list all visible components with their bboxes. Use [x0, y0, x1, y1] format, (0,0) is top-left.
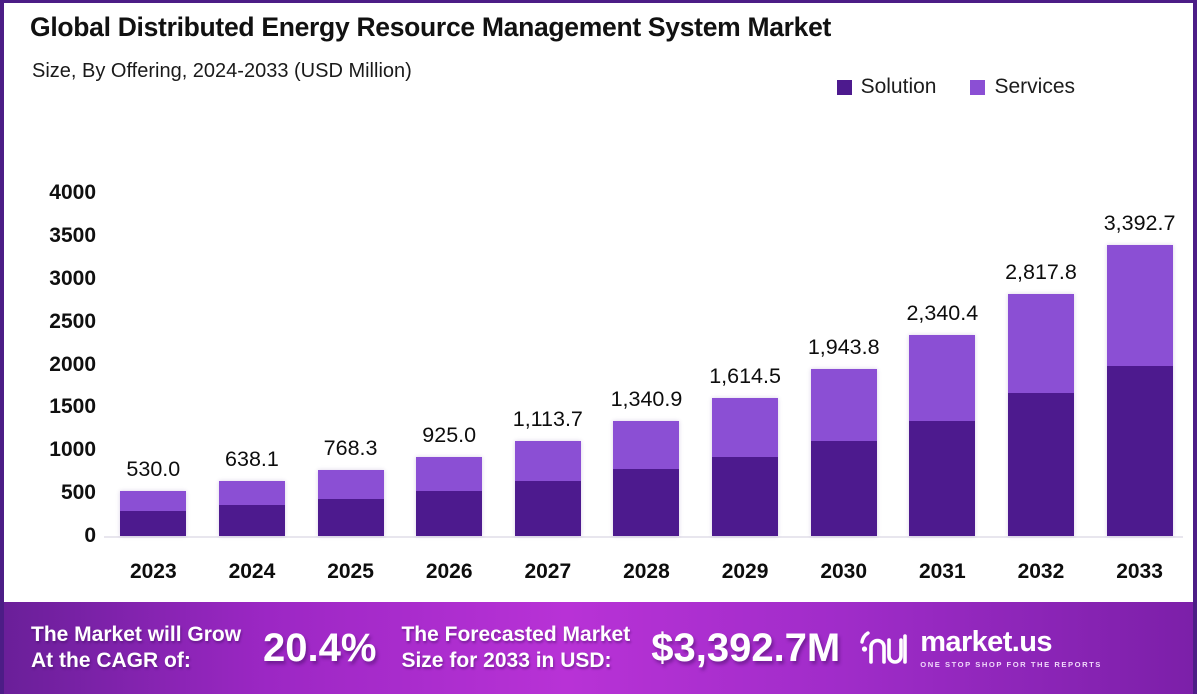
- bar-stack: [613, 421, 679, 536]
- chart-infographic: Global Distributed Energy Resource Manag…: [0, 0, 1197, 694]
- bar-group-2032[interactable]: 2,817.82032: [993, 107, 1089, 598]
- forecast-value: $3,392.7M: [651, 626, 840, 671]
- y-axis-tick-4000: 4000: [4, 181, 96, 205]
- bar-segment-solution[interactable]: [318, 499, 384, 536]
- chart-header: Global Distributed Energy Resource Manag…: [4, 3, 1193, 107]
- bar-segment-services[interactable]: [219, 481, 285, 505]
- page-title: Global Distributed Energy Resource Manag…: [30, 12, 831, 43]
- bar-segment-services[interactable]: [1107, 245, 1173, 365]
- bar-group-2023[interactable]: 530.02023: [105, 107, 201, 598]
- bar-group-2031[interactable]: 2,340.42031: [894, 107, 990, 598]
- y-axis-tick-0: 0: [4, 524, 96, 548]
- bar-segment-solution[interactable]: [219, 505, 285, 536]
- bar-group-2030[interactable]: 1,943.82030: [796, 107, 892, 598]
- y-axis: 05001000150020002500300035004000: [4, 107, 96, 598]
- y-axis-tick-3000: 3000: [4, 267, 96, 291]
- bar-segment-services[interactable]: [120, 491, 186, 511]
- cagr-label-line2: At the CAGR of:: [31, 649, 191, 672]
- bar-value-label-2023: 530.0: [126, 457, 180, 482]
- bar-segment-services[interactable]: [1008, 294, 1074, 393]
- bar-segment-solution[interactable]: [811, 441, 877, 536]
- x-axis-label-2030: 2030: [820, 560, 867, 584]
- legend-item-solution[interactable]: Solution: [837, 75, 937, 99]
- bar-stack: [120, 491, 186, 536]
- bar-segment-services[interactable]: [318, 470, 384, 498]
- legend-label-services: Services: [994, 75, 1075, 99]
- bar-value-label-2027: 1,113.7: [513, 407, 583, 432]
- x-axis-label-2028: 2028: [623, 560, 670, 584]
- bar-group-2024[interactable]: 638.12024: [204, 107, 300, 598]
- bar-segment-services[interactable]: [811, 369, 877, 441]
- brand-name: market.us: [920, 628, 1102, 657]
- cagr-label: The Market will Grow At the CAGR of:: [31, 622, 241, 674]
- bar-stack: [811, 369, 877, 536]
- bar-value-label-2026: 925.0: [422, 423, 476, 448]
- bar-group-2033[interactable]: 3,392.72033: [1092, 107, 1188, 598]
- bar-segment-services[interactable]: [909, 335, 975, 421]
- footer-banner: The Market will Grow At the CAGR of: 20.…: [4, 602, 1197, 694]
- y-axis-tick-1000: 1000: [4, 438, 96, 462]
- y-axis-tick-2500: 2500: [4, 310, 96, 334]
- legend-swatch-services: [970, 80, 985, 95]
- x-axis-label-2029: 2029: [722, 560, 769, 584]
- bar-stack: [318, 470, 384, 536]
- legend-item-services[interactable]: Services: [970, 75, 1075, 99]
- bar-series-group: 530.02023638.12024768.32025925.020261,11…: [104, 107, 1189, 598]
- bar-segment-solution[interactable]: [1008, 393, 1074, 536]
- bar-segment-solution[interactable]: [1107, 366, 1173, 536]
- bar-value-label-2030: 1,943.8: [808, 335, 880, 360]
- brand-text: market.us ONE STOP SHOP FOR THE REPORTS: [920, 628, 1102, 669]
- legend-label-solution: Solution: [861, 75, 937, 99]
- bar-stack: [712, 398, 778, 536]
- bar-group-2029[interactable]: 1,614.52029: [697, 107, 793, 598]
- bar-segment-services[interactable]: [515, 441, 581, 482]
- y-axis-tick-500: 500: [4, 481, 96, 505]
- y-axis-tick-2000: 2000: [4, 353, 96, 377]
- bar-stack: [909, 335, 975, 536]
- bar-value-label-2025: 768.3: [324, 436, 378, 461]
- bar-segment-solution[interactable]: [416, 491, 482, 536]
- bar-stack: [416, 457, 482, 536]
- x-axis-label-2027: 2027: [524, 560, 571, 584]
- bar-stack: [219, 481, 285, 536]
- forecast-label: The Forecasted Market Size for 2033 in U…: [401, 622, 630, 674]
- forecast-label-line1: The Forecasted Market: [401, 623, 630, 646]
- bar-value-label-2032: 2,817.8: [1005, 260, 1077, 285]
- bar-segment-services[interactable]: [416, 457, 482, 491]
- bar-segment-solution[interactable]: [120, 511, 186, 536]
- x-axis-label-2023: 2023: [130, 560, 177, 584]
- x-axis-label-2032: 2032: [1018, 560, 1065, 584]
- bar-segment-services[interactable]: [712, 398, 778, 457]
- bar-stack: [1107, 245, 1173, 536]
- y-axis-tick-1500: 1500: [4, 395, 96, 419]
- cagr-label-line1: The Market will Grow: [31, 623, 241, 646]
- market-us-logo-icon: [858, 628, 910, 668]
- plot-area: 05001000150020002500300035004000 530.020…: [4, 107, 1197, 598]
- x-axis-label-2031: 2031: [919, 560, 966, 584]
- bar-group-2027[interactable]: 1,113.72027: [500, 107, 596, 598]
- brand-tagline: ONE STOP SHOP FOR THE REPORTS: [920, 661, 1102, 669]
- bar-segment-solution[interactable]: [909, 421, 975, 536]
- bar-group-2026[interactable]: 925.02026: [401, 107, 497, 598]
- bar-segment-solution[interactable]: [515, 481, 581, 536]
- x-axis-label-2033: 2033: [1116, 560, 1163, 584]
- y-axis-tick-3500: 3500: [4, 224, 96, 248]
- x-axis-label-2024: 2024: [229, 560, 276, 584]
- chart-legend: Solution Services: [837, 75, 1075, 99]
- bar-group-2028[interactable]: 1,340.92028: [598, 107, 694, 598]
- bar-stack: [515, 441, 581, 536]
- cagr-value: 20.4%: [263, 626, 376, 671]
- bar-value-label-2024: 638.1: [225, 447, 279, 472]
- bar-value-label-2033: 3,392.7: [1104, 211, 1176, 236]
- bar-value-label-2031: 2,340.4: [906, 301, 978, 326]
- bar-segment-services[interactable]: [613, 421, 679, 469]
- brand-logo[interactable]: market.us ONE STOP SHOP FOR THE REPORTS: [858, 628, 1102, 669]
- bar-segment-solution[interactable]: [613, 469, 679, 536]
- bar-value-label-2028: 1,340.9: [611, 387, 683, 412]
- chart-subtitle: Size, By Offering, 2024-2033 (USD Millio…: [32, 60, 412, 83]
- bar-segment-solution[interactable]: [712, 457, 778, 536]
- forecast-label-line2: Size for 2033 in USD:: [401, 649, 611, 672]
- bar-stack: [1008, 294, 1074, 536]
- x-axis-label-2025: 2025: [327, 560, 374, 584]
- legend-swatch-solution: [837, 80, 852, 95]
- bar-value-label-2029: 1,614.5: [709, 364, 781, 389]
- bar-group-2025[interactable]: 768.32025: [303, 107, 399, 598]
- x-axis-label-2026: 2026: [426, 560, 473, 584]
